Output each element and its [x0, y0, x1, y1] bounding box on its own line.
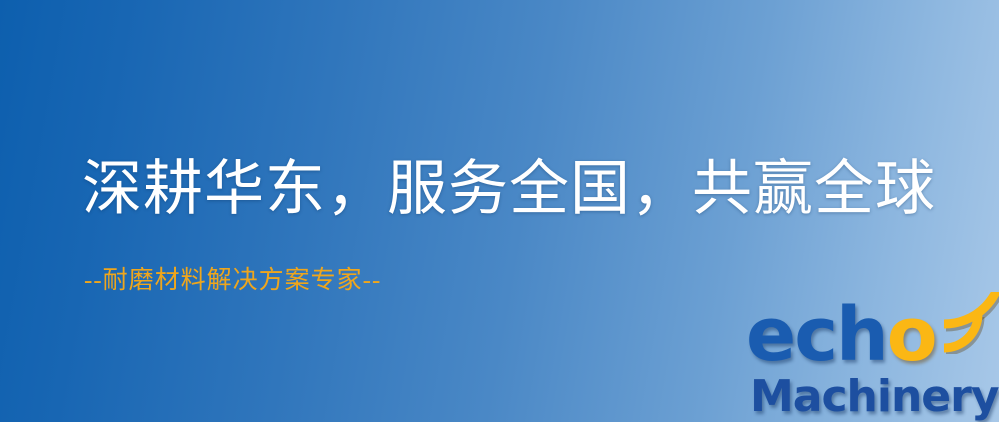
logo-wordmark-accent-o: o: [887, 292, 936, 378]
banner-subtitle: --耐磨材料解决方案专家--: [84, 266, 381, 296]
logo-wordmark: echo: [746, 298, 936, 372]
logo-tagline-text: Machinery: [750, 371, 999, 422]
banner-headline: 深耕华东，服务全国，共赢全球: [82, 156, 936, 222]
echo-waves-icon: [934, 292, 999, 354]
promotional-banner: 深耕华东，服务全国，共赢全球 --耐磨材料解决方案专家-- echo Machi…: [0, 0, 999, 422]
company-logo: echo Machinery®: [742, 296, 999, 422]
logo-wordmark-prefix: ech: [746, 292, 887, 378]
logo-tagline: Machinery®: [750, 368, 999, 420]
